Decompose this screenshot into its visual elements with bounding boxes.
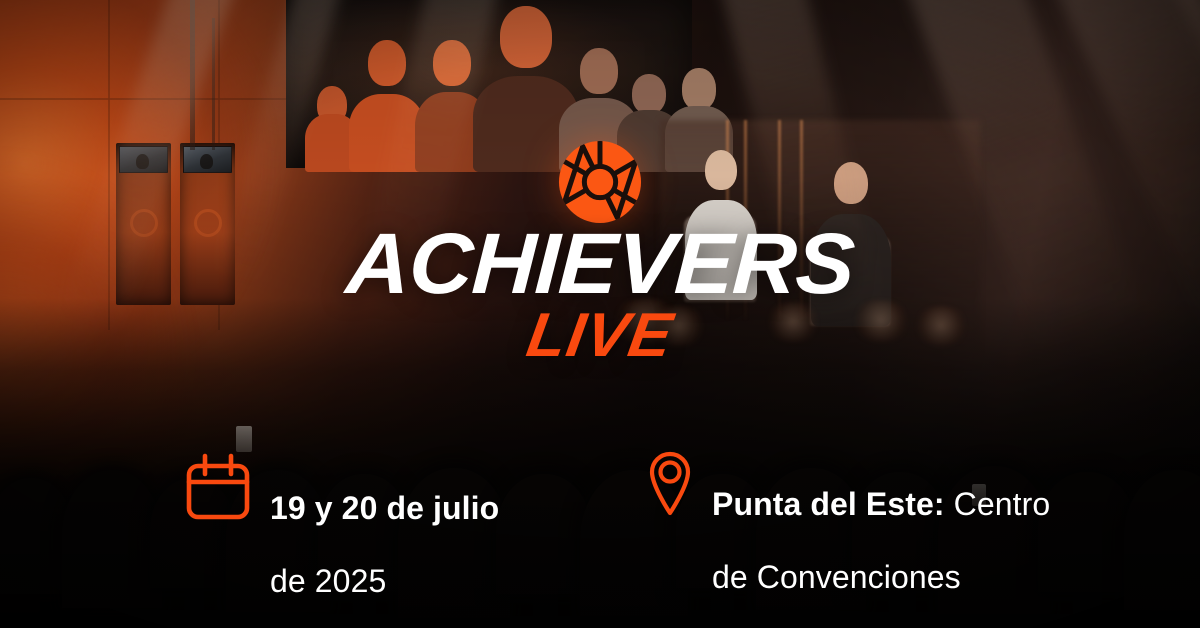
- map-pin-icon: [648, 448, 692, 516]
- event-date-text: 19 y 20 de julio de 2025: [270, 452, 499, 600]
- event-location-city: Punta del Este:: [712, 486, 945, 522]
- event-date-line2: de 2025: [270, 563, 386, 599]
- event-date-block: 19 y 20 de julio de 2025: [186, 452, 499, 600]
- event-location-text: Punta del Este: Centro de Convenciones: [712, 448, 1050, 596]
- event-subtitle: LIVE: [0, 308, 1200, 364]
- poster-content: ACHIEVERS LIVE 19 y 20 de juli: [0, 0, 1200, 628]
- event-location-block: Punta del Este: Centro de Convenciones: [648, 448, 1050, 596]
- event-title-block: ACHIEVERS LIVE: [0, 228, 1200, 364]
- event-location-venue-part2: de Convenciones: [712, 559, 961, 595]
- event-title: ACHIEVERS: [0, 228, 1200, 302]
- event-details-bar: 19 y 20 de julio de 2025 Punta del Este:…: [0, 440, 1200, 560]
- event-promo-poster: ACHIEVERS LIVE 19 y 20 de juli: [0, 0, 1200, 628]
- event-location-venue-part1: Centro: [945, 486, 1051, 522]
- calendar-icon: [186, 452, 250, 520]
- event-date-line1: 19 y 20 de julio: [270, 490, 499, 526]
